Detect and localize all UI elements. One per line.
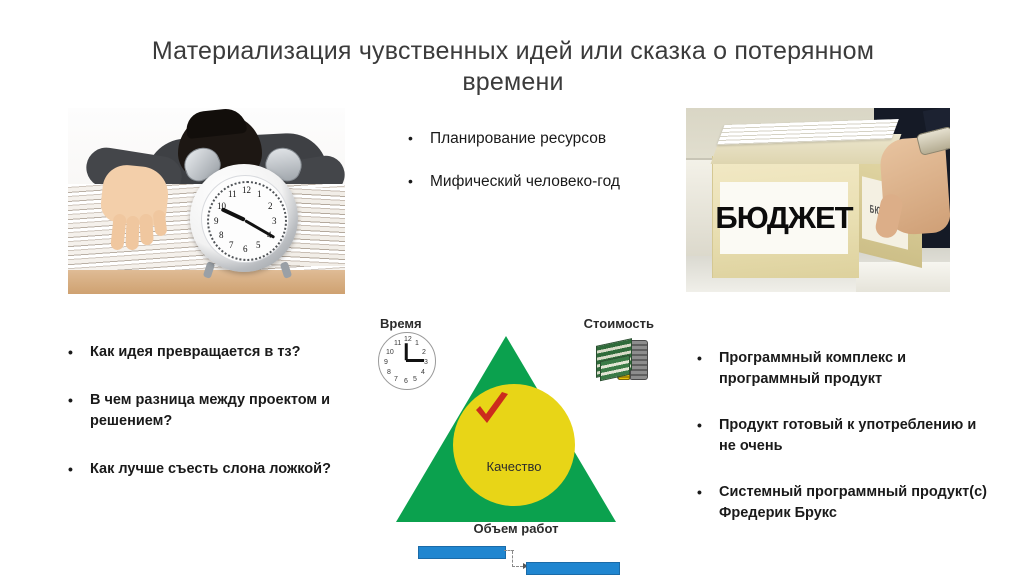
- bullet-list-top-center: • Планирование ресурсов • Мифический чел…: [408, 128, 658, 214]
- bullet-text: Планирование ресурсов: [430, 128, 658, 149]
- bullet-list-bottom-right: • Программный комплекс и программный про…: [697, 348, 987, 549]
- gantt-chart-bars: [400, 544, 630, 572]
- bullet-marker: •: [408, 171, 430, 192]
- bullet-text: Мифический человеко-год: [430, 171, 658, 192]
- clock-number: 9: [214, 216, 219, 226]
- diagram-label-time: Время: [380, 316, 422, 331]
- finger: [139, 214, 154, 246]
- checkmark-icon: [472, 392, 512, 432]
- bullet-text: Как лучше съесть слона ложкой?: [90, 459, 368, 480]
- list-item: • Как лучше съесть слона ложкой?: [68, 459, 368, 480]
- clock-number: 3: [272, 216, 277, 226]
- clock-number: 1: [257, 189, 262, 199]
- bullet-text: Как идея превращается в тз?: [90, 342, 368, 363]
- bullet-marker: •: [697, 482, 719, 503]
- clock-number: 5: [256, 240, 261, 250]
- project-triangle-diagram: Время Стоимость Объем работ 12 1 2 3 4 5…: [368, 308, 664, 574]
- diagram-label-scope: Объем работ: [368, 521, 664, 536]
- bullet-text: В чем разница между проектом и решением?: [90, 390, 368, 432]
- gantt-bar: [418, 546, 506, 559]
- box-front-label: БЮДЖЕТ: [720, 182, 848, 254]
- list-item: • В чем разница между проектом и решение…: [68, 390, 368, 432]
- finger: [125, 216, 139, 250]
- clock-number: 7: [229, 240, 234, 250]
- list-item: • Продукт готовый к употреблению и не оч…: [697, 415, 987, 457]
- box-label-text: БЮДЖЕТ: [715, 200, 852, 236]
- bullet-marker: •: [697, 348, 719, 369]
- diagram-label-cost: Стоимость: [584, 316, 654, 331]
- bullet-marker: •: [68, 459, 90, 480]
- clock-number: 6: [243, 244, 248, 254]
- clock-number: 8: [219, 230, 224, 240]
- alarm-clock-icon: 12 1 2 3 4 5 6 7 8 9 10 11: [190, 164, 298, 272]
- bullet-marker: •: [68, 390, 90, 411]
- quality-label: Качество: [487, 459, 542, 474]
- photo-tired-man-with-alarm-clock: 12 1 2 3 4 5 6 7 8 9 10 11: [68, 108, 345, 294]
- bullet-text: Системный программный продукт(с) Фредери…: [719, 482, 987, 524]
- list-item: • Программный комплекс и программный про…: [697, 348, 987, 390]
- clock-number: 8: [387, 369, 391, 376]
- list-item: • Как идея превращается в тз?: [68, 342, 368, 363]
- list-item: • Планирование ресурсов: [408, 128, 658, 149]
- clock-number: 12: [242, 185, 251, 195]
- bullet-list-bottom-left: • Как идея превращается в тз? • В чем ра…: [68, 342, 368, 507]
- bullet-text: Продукт готовый к употреблению и не очен…: [719, 415, 987, 457]
- clock-number: 2: [268, 201, 273, 211]
- clock-number: 9: [384, 359, 388, 366]
- clock-face: 12 1 2 3 4 5 6 7 8 9 10 11: [201, 175, 289, 263]
- bullet-marker: •: [697, 415, 719, 436]
- clock-number: 11: [228, 189, 237, 199]
- list-item: • Мифический человеко-год: [408, 171, 658, 192]
- page-title: Материализация чувственных идей или сказ…: [105, 36, 921, 98]
- slide-canvas: Материализация чувственных идей или сказ…: [0, 0, 1024, 574]
- bullet-text: Программный комплекс и программный проду…: [719, 348, 987, 390]
- clock-number: 10: [386, 349, 394, 356]
- gantt-bar: [526, 562, 620, 575]
- bullet-marker: •: [68, 342, 90, 363]
- background-papers: [856, 262, 950, 292]
- bullet-marker: •: [408, 128, 430, 149]
- list-item: • Системный программный продукт(с) Фреде…: [697, 482, 987, 524]
- photo-budget-box: БЮДЖЕТ БЮДЖЕТ: [686, 108, 950, 292]
